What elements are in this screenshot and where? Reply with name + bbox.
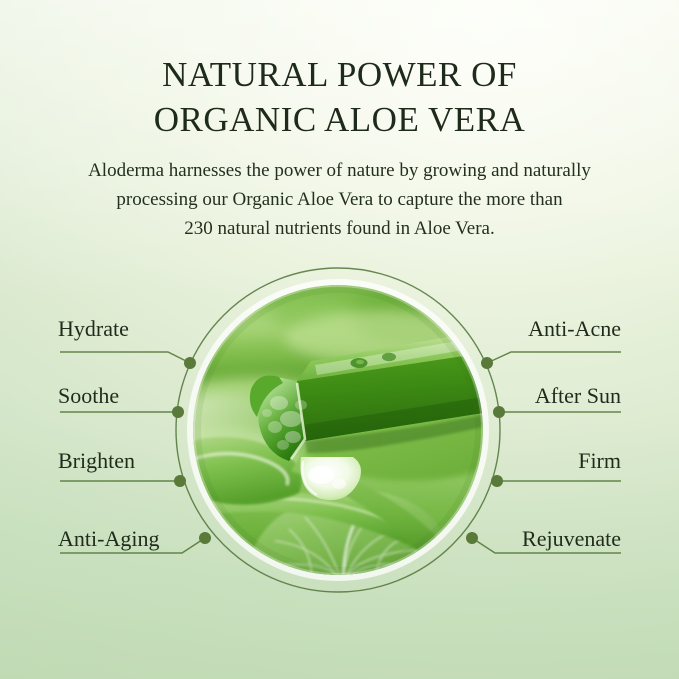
title-line-1: NATURAL POWER OF (0, 52, 679, 97)
subtitle-line-2: processing our Organic Aloe Vera to capt… (40, 185, 640, 214)
benefit-label-rejuvenate[interactable]: Rejuvenate (0, 526, 621, 552)
subtitle-paragraph: Aloderma harnesses the power of nature b… (40, 156, 640, 243)
benefit-label-firm[interactable]: Firm (0, 448, 621, 474)
page-title: NATURAL POWER OF ORGANIC ALOE VERA (0, 52, 679, 142)
title-line-2: ORGANIC ALOE VERA (0, 97, 679, 142)
subtitle-line-3: 230 natural nutrients found in Aloe Vera… (40, 214, 640, 243)
benefit-label-after-sun[interactable]: After Sun (0, 383, 621, 409)
benefit-label-anti-acne[interactable]: Anti-Acne (0, 316, 621, 342)
subtitle-line-1: Aloderma harnesses the power of nature b… (40, 156, 640, 185)
aloe-vera-infographic-poster: NATURAL POWER OF ORGANIC ALOE VERA Alode… (0, 0, 679, 679)
poster-header: NATURAL POWER OF ORGANIC ALOE VERA Alode… (0, 52, 679, 243)
